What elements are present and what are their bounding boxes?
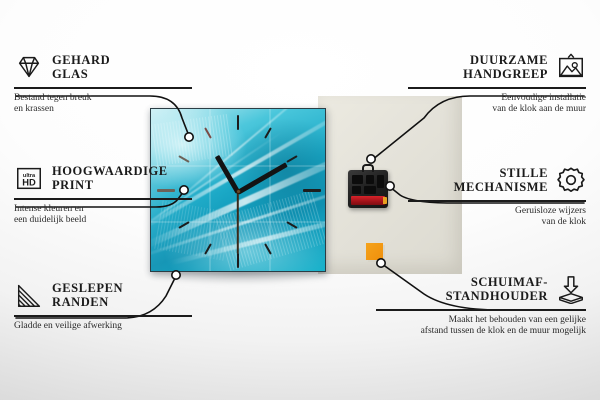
- feature-duurzame-handgreep[interactable]: DUURZAME HANDGREEP Eenvoudige installati…: [408, 50, 586, 116]
- beveled-edge-icon: [14, 280, 44, 310]
- feature-geslepen-randen[interactable]: GESLEPEN RANDEN Gladde en veilige afwerk…: [14, 278, 192, 332]
- feature-header: DUURZAME HANDGREEP: [408, 50, 586, 84]
- feature-divider: [376, 309, 586, 311]
- foam-spacer-icon: [556, 274, 586, 304]
- foam-spacer-pad: [366, 243, 383, 260]
- picture-frame-icon: [556, 52, 586, 82]
- feature-title: SCHUIMAF- STANDHOUDER: [446, 275, 548, 303]
- feature-schuimafstandhouder[interactable]: SCHUIMAF- STANDHOUDER Maakt het behouden…: [376, 272, 586, 338]
- feature-divider: [14, 87, 192, 89]
- feature-gehard-glas[interactable]: GEHARD GLAS Bestand tegen breuk en krass…: [14, 50, 192, 116]
- feature-hoogwaardige-print[interactable]: ultra HD HOOGWAARDIGE PRINT Intense kleu…: [14, 161, 192, 227]
- feature-divider: [14, 315, 192, 317]
- feature-divider: [408, 87, 586, 89]
- aa-battery: [351, 196, 385, 205]
- infographic-stage: GEHARD GLAS Bestand tegen breuk en krass…: [0, 0, 600, 400]
- mechanism-detail: [364, 186, 376, 194]
- svg-text:HD: HD: [22, 178, 36, 188]
- gear-icon: [556, 165, 586, 195]
- feature-header: GEHARD GLAS: [14, 50, 192, 84]
- feature-title: DUURZAME HANDGREEP: [463, 53, 548, 81]
- clock-pivot: [236, 189, 241, 194]
- mechanism-detail: [352, 186, 361, 194]
- feature-description: Geruisloze wijzers van de klok: [408, 206, 586, 229]
- feature-divider: [408, 200, 586, 202]
- mechanism-detail: [352, 175, 363, 184]
- feature-description: Intense kleuren en een duidelijk beeld: [14, 204, 192, 227]
- feature-title: GESLEPEN RANDEN: [52, 281, 123, 309]
- feature-description: Eenvoudige installatie van de klok aan d…: [408, 93, 586, 116]
- feature-title: GEHARD GLAS: [52, 53, 110, 81]
- mechanism-detail: [377, 175, 384, 188]
- feature-description: Maakt het behouden van een gelijke afsta…: [376, 315, 586, 338]
- mechanism-hanger-icon: [362, 164, 374, 172]
- hour-marker-3: [303, 189, 321, 192]
- feature-description: Bestand tegen breuk en krassen: [14, 93, 192, 116]
- feature-header: SCHUIMAF- STANDHOUDER: [376, 272, 586, 306]
- feature-title: STILLE MECHANISME: [454, 166, 548, 194]
- feature-header: STILLE MECHANISME: [408, 163, 586, 197]
- feature-stille-mechanisme[interactable]: STILLE MECHANISME Geruisloze wijzers van…: [408, 163, 586, 229]
- clock-mechanism: [348, 170, 388, 208]
- feature-description: Gladde en veilige afwerking: [14, 321, 192, 333]
- feature-title: HOOGWAARDIGE PRINT: [52, 164, 168, 192]
- feature-header: GESLEPEN RANDEN: [14, 278, 192, 312]
- feature-divider: [14, 198, 192, 200]
- mechanism-detail: [366, 175, 374, 184]
- ultra-hd-icon: ultra HD: [14, 163, 44, 193]
- hour-marker-6: [237, 253, 239, 268]
- second-hand: [237, 191, 239, 253]
- hour-marker-12: [237, 115, 239, 130]
- feature-header: ultra HD HOOGWAARDIGE PRINT: [14, 161, 192, 195]
- diamond-icon: [14, 52, 44, 82]
